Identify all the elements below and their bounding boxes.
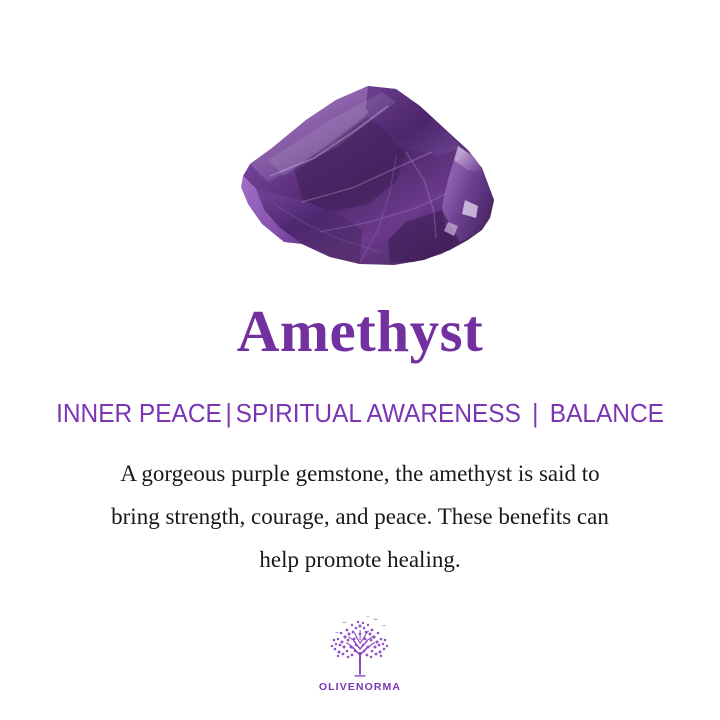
brand-logo: OLIVENORMA bbox=[0, 612, 720, 693]
description-line-3: help promote healing. bbox=[50, 538, 670, 581]
hero-image-area bbox=[0, 0, 720, 285]
description-text: A gorgeous purple gemstone, the amethyst… bbox=[50, 452, 670, 581]
tree-icon bbox=[318, 612, 402, 680]
raw-amethyst-crystal-icon bbox=[210, 72, 510, 277]
amethyst-info-card: Amethyst INNER PEACE|SPIRITUAL AWARENESS… bbox=[0, 0, 720, 720]
keyword-list: INNER PEACE|SPIRITUAL AWARENESS|BALANCE bbox=[22, 398, 699, 428]
keyword-spiritual-awareness: SPIRITUAL AWARENESS bbox=[236, 398, 521, 428]
description-line-2: bring strength, courage, and peace. Thes… bbox=[50, 495, 670, 538]
keyword-inner-peace: INNER PEACE bbox=[56, 398, 222, 428]
keyword-separator-2: | bbox=[521, 398, 550, 428]
description-line-1: A gorgeous purple gemstone, the amethyst… bbox=[50, 452, 670, 495]
keyword-balance: BALANCE bbox=[550, 398, 664, 428]
page-title: Amethyst bbox=[0, 300, 720, 362]
brand-name: OLIVENORMA bbox=[319, 681, 401, 693]
keyword-separator-1: | bbox=[222, 398, 236, 428]
